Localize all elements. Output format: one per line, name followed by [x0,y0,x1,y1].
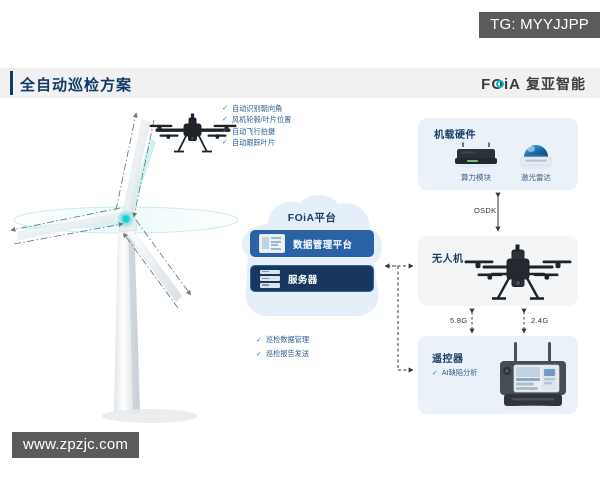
slide-canvas: TG: MYYJJPP 全自动巡检方案 FOiA 复亚智能 [0,0,600,480]
list-item-label: 自动飞行拍摄 [232,128,275,136]
list-item: ✓ 自动跟踪叶片 [222,139,291,147]
brand-logo: FOiA 复亚智能 [481,74,586,94]
foia-platform-cloud: FOiA平台 数据管理平台 服务器 [232,194,392,329]
data-management-platform-box[interactable]: 数据管理平台 [250,230,374,257]
list-item: ✓ 巡检数据管理 [256,335,309,345]
check-icon: ✓ [222,128,228,136]
header-accent-bar [10,71,13,95]
list-item: ✓ 巡检报告发送 [256,349,309,359]
compute-module-label: 算力模块 [444,172,508,183]
watermark-bottom: www.zpzjc.com [12,432,139,458]
list-item-label: 巡检报告发送 [266,349,309,359]
list-item: ✓ 风机轮毂/叶片位置 [222,116,291,124]
server-rack-icon [260,270,280,288]
server-box[interactable]: 服务器 [250,265,374,292]
watermark-top: TG: MYYJJPP [479,12,600,38]
page-title: 全自动巡检方案 [20,74,132,95]
panel-remote-controller-title: 遥控器 [432,350,464,365]
cloud-title: FOiA平台 [232,210,392,225]
server-label: 服务器 [288,272,318,286]
check-icon: ✓ [222,116,228,124]
link-58g-label: 5.8G [450,316,467,325]
compute-module-icon [452,142,500,170]
link-24g-label: 2.4G [531,316,548,325]
check-icon: ✓ [256,350,262,358]
list-item-label: 自动识别朝向角 [232,105,282,113]
logo-ring-icon [496,80,504,88]
remote-feature-item: ✓ AI缺陷分析 [432,368,477,378]
cloud-feature-list: ✓ 巡检数据管理 ✓ 巡检报告发送 [256,335,309,363]
panel-uav-title: 无人机 [432,250,464,265]
list-item: ✓ 自动飞行拍摄 [222,128,291,136]
lidar-label: 激光雷达 [504,172,568,183]
list-item-label: 自动跟踪叶片 [232,139,275,147]
turbine-feature-list: ✓ 自动识别朝向角 ✓ 风机轮毂/叶片位置 ✓ 自动飞行拍摄 ✓ 自动跟踪叶片 [222,105,291,151]
remote-controller-icon [494,342,572,412]
list-item-label: 巡检数据管理 [266,335,309,345]
data-management-platform-label: 数据管理平台 [293,237,352,251]
check-icon: ✓ [432,369,438,377]
logo-mark: FOiA [481,76,521,93]
list-item: ✓ 自动识别朝向角 [222,105,291,113]
remote-feature-label: AI缺陷分析 [442,368,478,378]
list-item-label: 风机轮毂/叶片位置 [232,116,292,124]
check-icon: ✓ [222,105,228,113]
lidar-icon [514,139,558,171]
panel-onboard-hardware-title: 机载硬件 [434,126,476,141]
osdk-label: OSDK [474,206,496,215]
monitor-icon [259,234,285,253]
diagram-area: ✓ 自动识别朝向角 ✓ 风机轮毂/叶片位置 ✓ 自动飞行拍摄 ✓ 自动跟踪叶片 … [0,98,600,443]
slide-header: 全自动巡检方案 FOiA 复亚智能 [0,68,600,98]
drone-icon [462,241,574,303]
check-icon: ✓ [256,336,262,344]
check-icon: ✓ [222,139,228,147]
logo-company-name: 复亚智能 [526,74,586,94]
